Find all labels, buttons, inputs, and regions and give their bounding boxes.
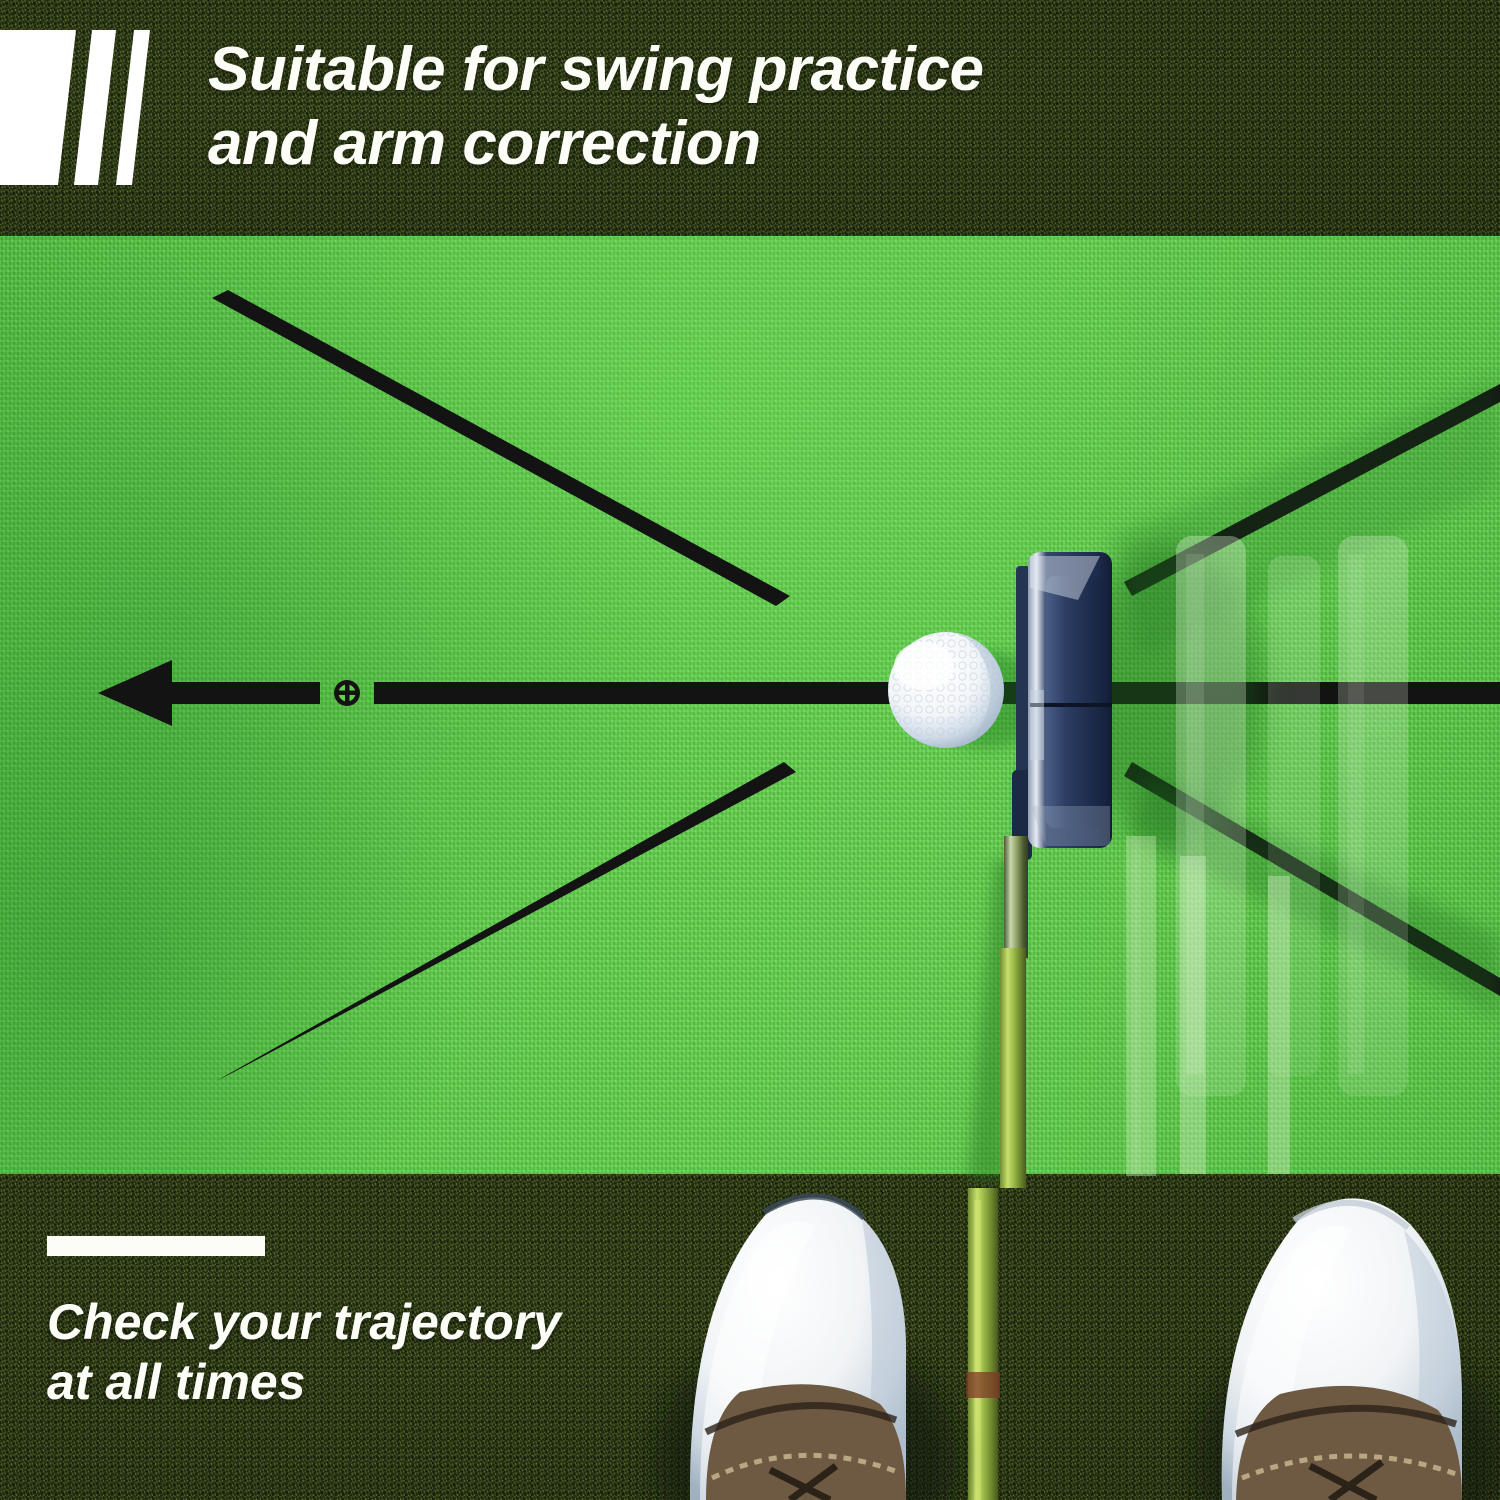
product-marketing-image: Suitable for swing practice and arm corr… (0, 0, 1500, 1500)
headline-line-1: Suitable for swing practice (208, 33, 1388, 107)
headline-line-2: and arm correction (208, 107, 1388, 181)
lower-left-diagonal-line (216, 762, 796, 1081)
caption-text: Check your trajectory at all times (47, 1292, 667, 1412)
caption-rule (47, 1236, 265, 1256)
crosshair-target-icon (334, 680, 360, 706)
caption-line-2: at all times (47, 1352, 667, 1412)
left-arrow-icon (98, 660, 172, 726)
center-line-right-segment (374, 682, 1500, 704)
golf-practice-mat (0, 236, 1500, 1174)
slanted-bars-logo-icon (0, 30, 180, 185)
ghost-putter-blade-2 (1338, 536, 1408, 1096)
mat-alignment-markings (0, 236, 1500, 1174)
center-line-arrow-shaft (150, 682, 320, 704)
upper-left-diagonal-line (212, 290, 790, 606)
page-title: Suitable for swing practice and arm corr… (208, 33, 1388, 181)
caption-line-1: Check your trajectory (47, 1292, 667, 1352)
